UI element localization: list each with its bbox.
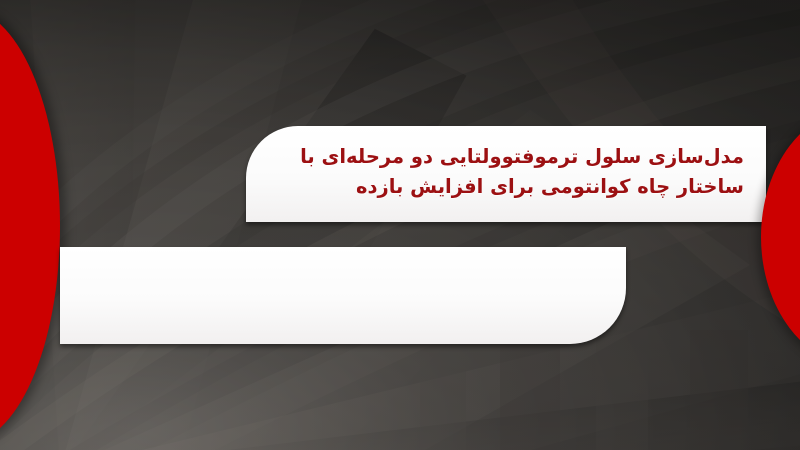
slide-title: مدل‌سازی سلول ترموفتوولتایی دو مرحله‌ای … — [246, 142, 744, 202]
slide-background — [0, 0, 800, 450]
title-panel: مدل‌سازی سلول ترموفتوولتایی دو مرحله‌ای … — [246, 126, 766, 222]
title-slide: مدل‌سازی سلول ترموفتوولتایی دو مرحله‌ای … — [0, 0, 800, 450]
subtitle-panel — [60, 247, 626, 344]
